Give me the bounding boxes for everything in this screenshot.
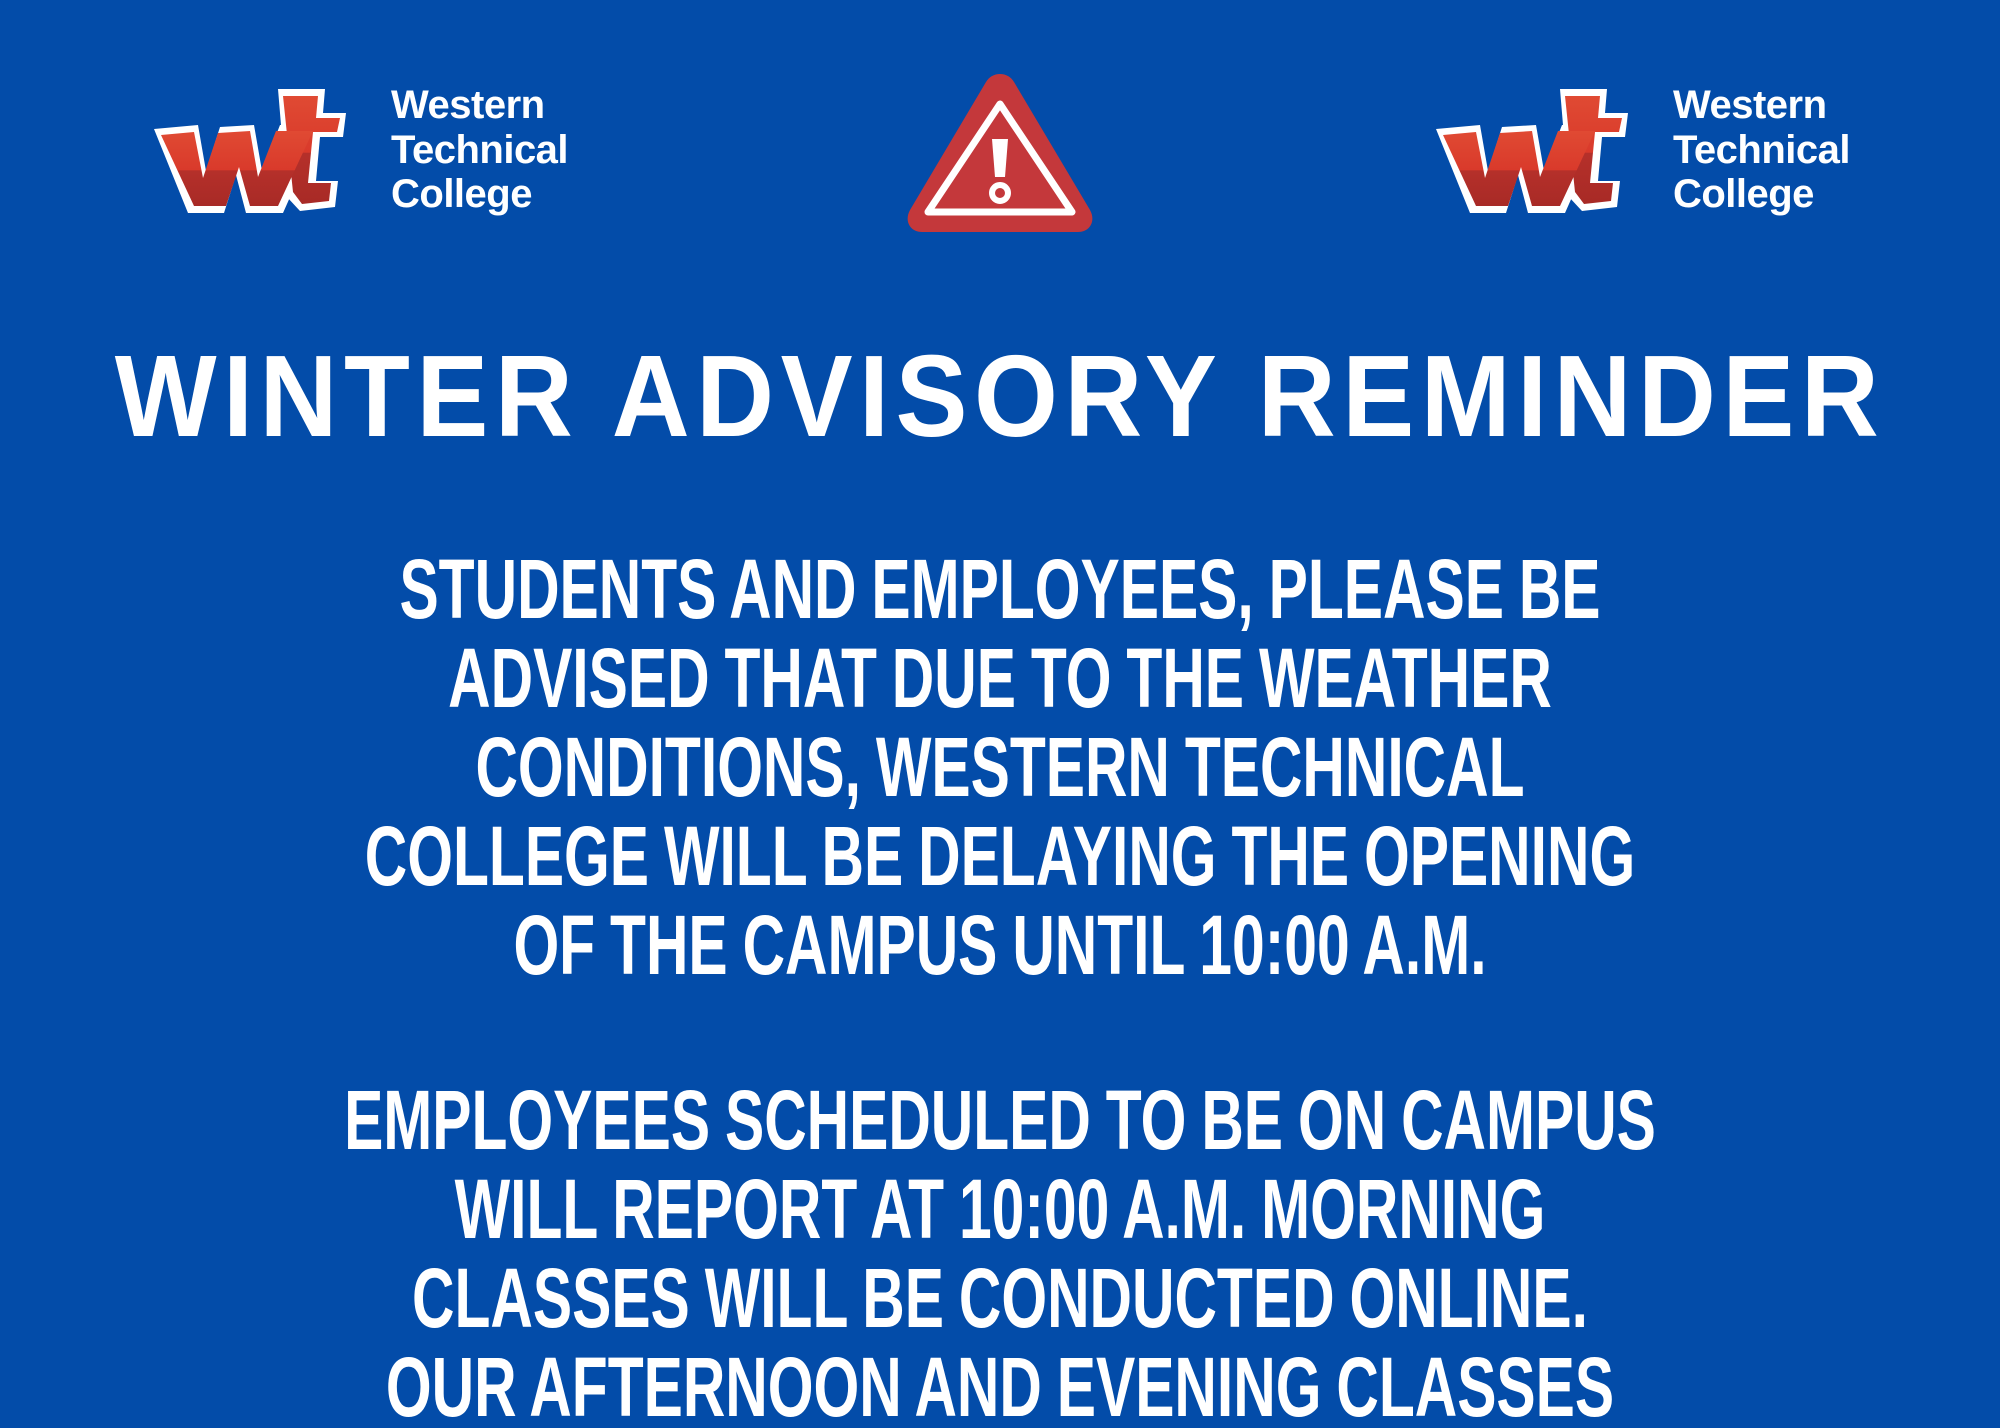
logo-left-line1: Western [391, 83, 568, 128]
logo-left-line2: Technical [391, 128, 568, 173]
logo-left: Western Technical College [150, 83, 568, 217]
wt-logo-mark-icon [150, 85, 365, 215]
logo-right-line3: College [1673, 172, 1850, 217]
logo-right-line1: Western [1673, 83, 1850, 128]
warning-triangle-icon [900, 60, 1100, 240]
logo-right-wordmark: Western Technical College [1673, 83, 1850, 217]
logo-left-line3: College [391, 172, 568, 217]
wt-logo-mark-icon [1432, 85, 1647, 215]
page-title: WINTER ADVISORY REMINDER [70, 338, 1930, 454]
logo-right-line2: Technical [1673, 128, 1850, 173]
announcement-body: STUDENTS AND EMPLOYEES, PLEASE BE ADVISE… [60, 545, 1940, 1428]
warning-triangle [895, 55, 1105, 245]
announcement-paragraph-1: STUDENTS AND EMPLOYEES, PLEASE BE ADVISE… [342, 545, 1658, 990]
logo-right: Western Technical College [1432, 83, 1850, 217]
announcement-paragraph-2: EMPLOYEES SCHEDULED TO BE ON CAMPUS WILL… [342, 1076, 1658, 1428]
logo-left-wordmark: Western Technical College [391, 83, 568, 217]
header-bar: Western Technical College [0, 0, 2000, 300]
